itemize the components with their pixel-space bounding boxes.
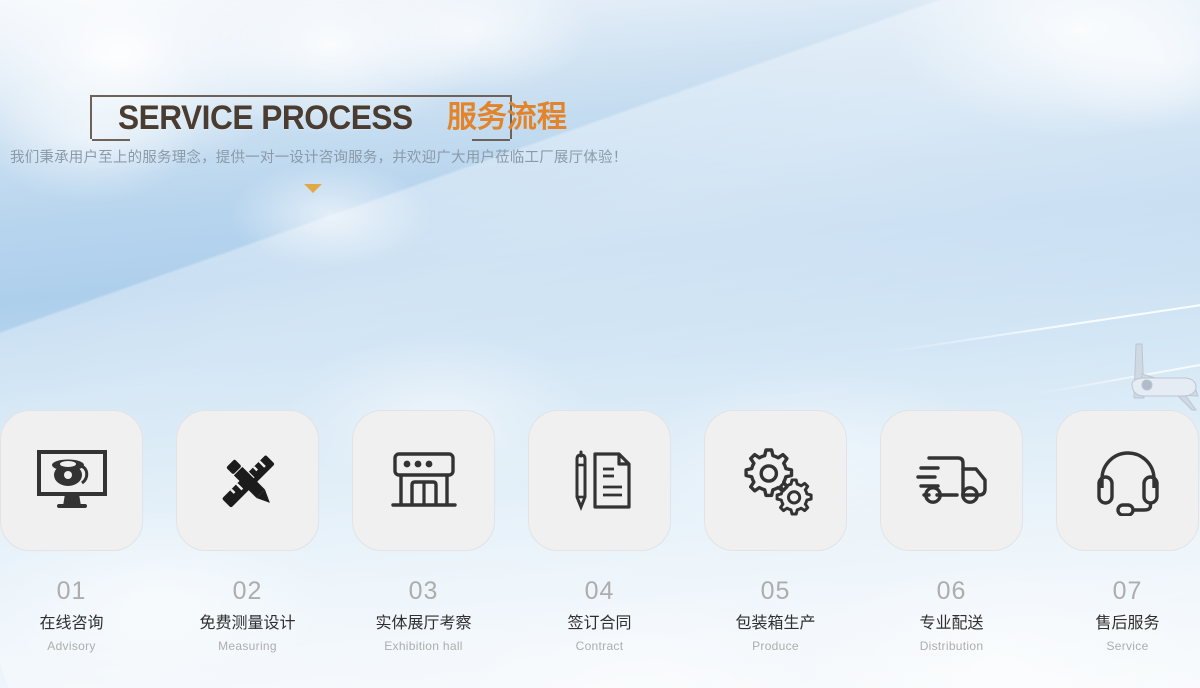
step-icon-tile[interactable] <box>880 410 1023 551</box>
step-label-en: Service <box>1056 640 1199 652</box>
process-step-7[interactable]: 07 售后服务 Service <box>1056 410 1199 652</box>
step-icon-tile[interactable] <box>1056 410 1199 551</box>
delivery-truck-icon <box>912 453 992 509</box>
step-label-en: Measuring <box>176 640 319 652</box>
step-label-cn: 在线咨询 <box>0 615 143 631</box>
step-label-cn: 签订合同 <box>528 615 671 631</box>
pen-document-icon <box>565 447 635 515</box>
step-number: 07 <box>1056 579 1199 604</box>
step-label-cn: 专业配送 <box>880 615 1023 631</box>
step-label-en: Exhibition hall <box>352 640 495 652</box>
step-number: 03 <box>352 579 495 604</box>
process-step-5[interactable]: 05 包装箱生产 Produce <box>704 410 847 652</box>
ruler-pencil-icon <box>211 446 285 516</box>
process-step-2[interactable]: 02 免费测量设计 Measuring <box>176 410 319 652</box>
step-number: 02 <box>176 579 319 604</box>
process-step-1[interactable]: 01 在线咨询 Advisory <box>0 410 143 652</box>
step-label-cn: 免费测量设计 <box>176 615 319 631</box>
step-icon-tile[interactable] <box>176 410 319 551</box>
step-number: 06 <box>880 579 1023 604</box>
process-step-6[interactable]: 06 专业配送 Distribution <box>880 410 1023 652</box>
step-number: 05 <box>704 579 847 604</box>
step-label-cn: 实体展厅考察 <box>352 615 495 631</box>
step-label-cn: 售后服务 <box>1056 615 1199 631</box>
step-number: 01 <box>0 579 143 604</box>
title-chinese: 服务流程 <box>447 103 567 133</box>
step-icon-tile[interactable] <box>0 410 143 551</box>
step-label-cn: 包装箱生产 <box>704 615 847 631</box>
title-english: SERVICE PROCESS <box>118 101 413 135</box>
headset-icon <box>1092 446 1164 516</box>
step-icon-tile[interactable] <box>352 410 495 551</box>
step-label-en: Produce <box>704 640 847 652</box>
section-subtitle: 我们秉承用户至上的服务理念，提供一对一设计咨询服务，并欢迎广大用户莅临工厂展厅体… <box>10 146 627 167</box>
step-icon-tile[interactable] <box>528 410 671 551</box>
storefront-icon <box>388 449 460 513</box>
step-label-en: Advisory <box>0 640 143 652</box>
step-label-en: Distribution <box>880 640 1023 652</box>
gears-icon <box>738 446 814 516</box>
chevron-down-icon <box>304 184 322 193</box>
process-step-3[interactable]: 03 实体展厅考察 Exhibition hall <box>352 410 495 652</box>
service-process-section: SERVICE PROCESS服务流程 我们秉承用户至上的服务理念，提供一对一设… <box>0 0 1200 688</box>
process-step-4[interactable]: 04 签订合同 Contract <box>528 410 671 652</box>
monitor-phone-icon <box>33 446 111 516</box>
process-steps-row: 01 在线咨询 Advisory <box>0 410 1200 688</box>
step-number: 04 <box>528 579 671 604</box>
page-title: SERVICE PROCESS服务流程 <box>118 101 567 135</box>
step-icon-tile[interactable] <box>704 410 847 551</box>
step-label-en: Contract <box>528 640 671 652</box>
